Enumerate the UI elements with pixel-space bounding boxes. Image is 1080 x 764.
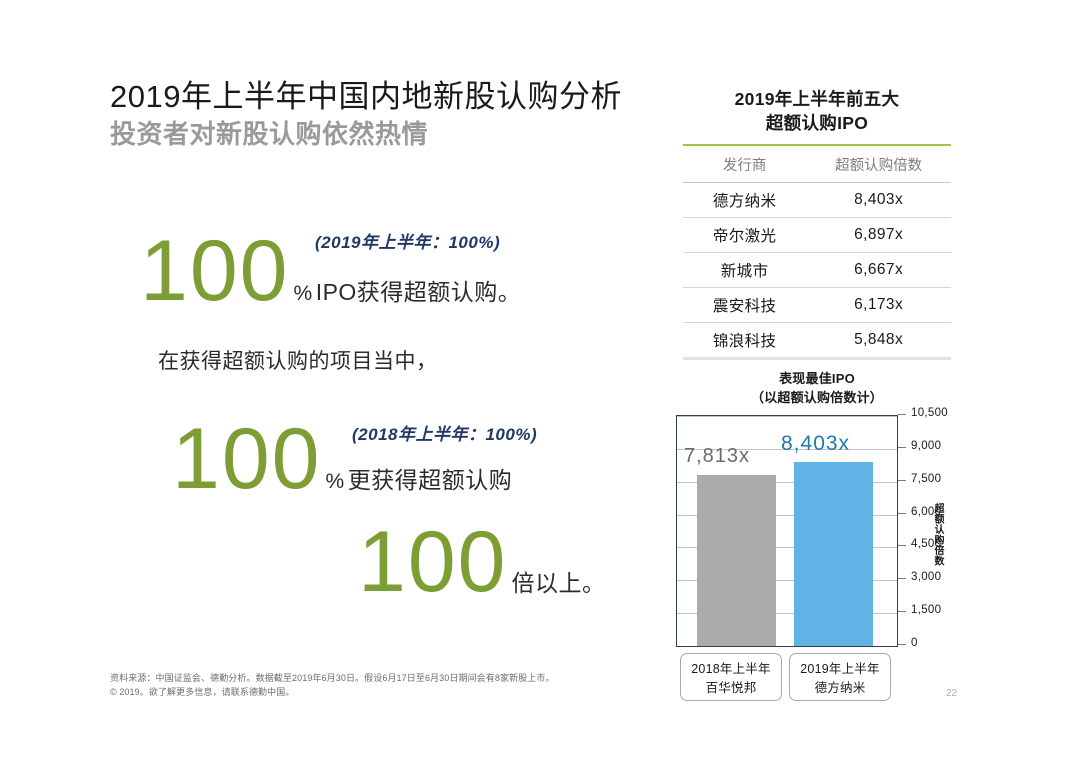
chart-y-axis-title: 超额认购倍数 (930, 503, 945, 566)
table-title-line-1: 2019年上半年前五大 (672, 88, 962, 112)
stat-1-note: (2019年上半年：100%) (315, 228, 500, 253)
right-panel: 2019年上半年前五大 超额认购IPO 发行商 超额认购倍数 德方纳米 8,40… (672, 88, 962, 707)
category-2019-name: 德方纳米 (790, 679, 890, 698)
footnote-source-line: 资料来源：中国证监会、德勤分析。数据截至2019年6月30日。假设6月17日至6… (110, 672, 670, 686)
stat-1-number: 100 (140, 232, 290, 311)
table-title: 2019年上半年前五大 超额认购IPO (672, 88, 962, 135)
table-row: 新城市 6,667x (683, 253, 951, 288)
page-title: 2019年上半年中国内地新股认购分析 (110, 78, 670, 115)
chart-tick-label: 7,500 (911, 473, 941, 485)
chart-tick-mark (898, 545, 906, 546)
stat-1-tail-text: IPO获得超额认购。 (316, 279, 522, 305)
cell-multiple: 6,667x (806, 253, 951, 288)
stat-3-tail-text: 倍以上。 (512, 570, 606, 596)
table-row: 德方纳米 8,403x (683, 183, 951, 218)
stat-1-tail: %IPO获得超额认购。 (290, 273, 522, 307)
chart-tick-mark (898, 644, 906, 645)
stat-3-number: 100 (358, 523, 508, 602)
chart-tick-label: 3,000 (911, 571, 941, 583)
table-title-line-2: 超额认购IPO (672, 112, 962, 136)
cell-issuer: 震安科技 (683, 288, 806, 323)
category-2018-name: 百华悦邦 (681, 679, 781, 698)
chart-tick-label: 0 (911, 637, 918, 649)
chart-tick-mark (898, 578, 906, 579)
chart-tick-mark (898, 414, 906, 415)
bar-label-2019: 8,403x (781, 432, 850, 456)
stat-1-percent-sign: % (294, 282, 316, 305)
table-header-issuer: 发行商 (683, 145, 806, 183)
chart-gridline (677, 416, 897, 417)
cell-issuer: 锦浪科技 (683, 323, 806, 359)
cell-issuer: 新城市 (683, 253, 806, 288)
bar-2018 (697, 475, 776, 646)
chart-title-line-2: （以超额认购倍数计） (672, 389, 962, 408)
page-subtitle: 投资者对新股认购依然热情 (110, 118, 670, 151)
table-header-multiple: 超额认购倍数 (806, 145, 951, 183)
chart-plot-area: 7,813x 8,403x (676, 415, 898, 647)
stat-2-note: (2018年上半年：100%) (352, 420, 537, 445)
category-2019-period: 2019年上半年 (790, 660, 890, 679)
footnote-copyright-line: © 2019。欲了解更多信息，请联系德勤中国。 (110, 686, 670, 700)
category-2018-period: 2018年上半年 (681, 660, 781, 679)
chart-tick-mark (898, 480, 906, 481)
stat-2-number: 100 (172, 420, 322, 499)
table-row: 震安科技 6,173x (683, 288, 951, 323)
chart-tick-mark (898, 611, 906, 612)
table-row: 锦浪科技 5,848x (683, 323, 951, 359)
footnote: 资料来源：中国证监会、德勤分析。数据截至2019年6月30日。假设6月17日至6… (110, 672, 670, 700)
stat-2-percent-sign: % (326, 470, 348, 493)
stat-3-tail: 倍以上。 (508, 564, 606, 598)
cell-multiple: 8,403x (806, 183, 951, 218)
top-five-ipo-table: 发行商 超额认购倍数 德方纳米 8,403x 帝尔激光 6,897x 新城市 6… (683, 144, 951, 360)
chart-title: 表现最佳IPO （以超额认购倍数计） (672, 370, 962, 408)
chart-tick-mark (898, 513, 906, 514)
stat-block-3: 100倍以上。 (358, 523, 606, 602)
table-row: 帝尔激光 6,897x (683, 218, 951, 253)
category-label-2019: 2019年上半年 德方纳米 (789, 653, 891, 701)
cell-multiple: 6,173x (806, 288, 951, 323)
chart-tick-label: 9,000 (911, 440, 941, 452)
cell-issuer: 德方纳米 (683, 183, 806, 218)
cell-multiple: 6,897x (806, 218, 951, 253)
category-label-2018: 2018年上半年 百华悦邦 (680, 653, 782, 701)
left-content-column: 2019年上半年中国内地新股认购分析 投资者对新股认购依然热情 (110, 78, 670, 151)
cell-multiple: 5,848x (806, 323, 951, 359)
cell-issuer: 帝尔激光 (683, 218, 806, 253)
middle-statement: 在获得超额认购的项目当中， (158, 345, 438, 375)
chart-tick-label: 1,500 (911, 604, 941, 616)
stat-2-tail: %更获得超额认购 (322, 461, 513, 495)
best-performing-ipo-chart: 7,813x 8,403x 01,5003,0004,5006,0007,500… (672, 415, 962, 707)
table-header-row: 发行商 超额认购倍数 (683, 145, 951, 183)
chart-title-line-1: 表现最佳IPO (672, 370, 962, 389)
bar-2019 (794, 462, 873, 646)
chart-tick-mark (898, 447, 906, 448)
bar-label-2018: 7,813x (684, 445, 750, 468)
chart-tick-label: 10,500 (911, 407, 948, 419)
stat-2-tail-text: 更获得超额认购 (348, 467, 513, 493)
